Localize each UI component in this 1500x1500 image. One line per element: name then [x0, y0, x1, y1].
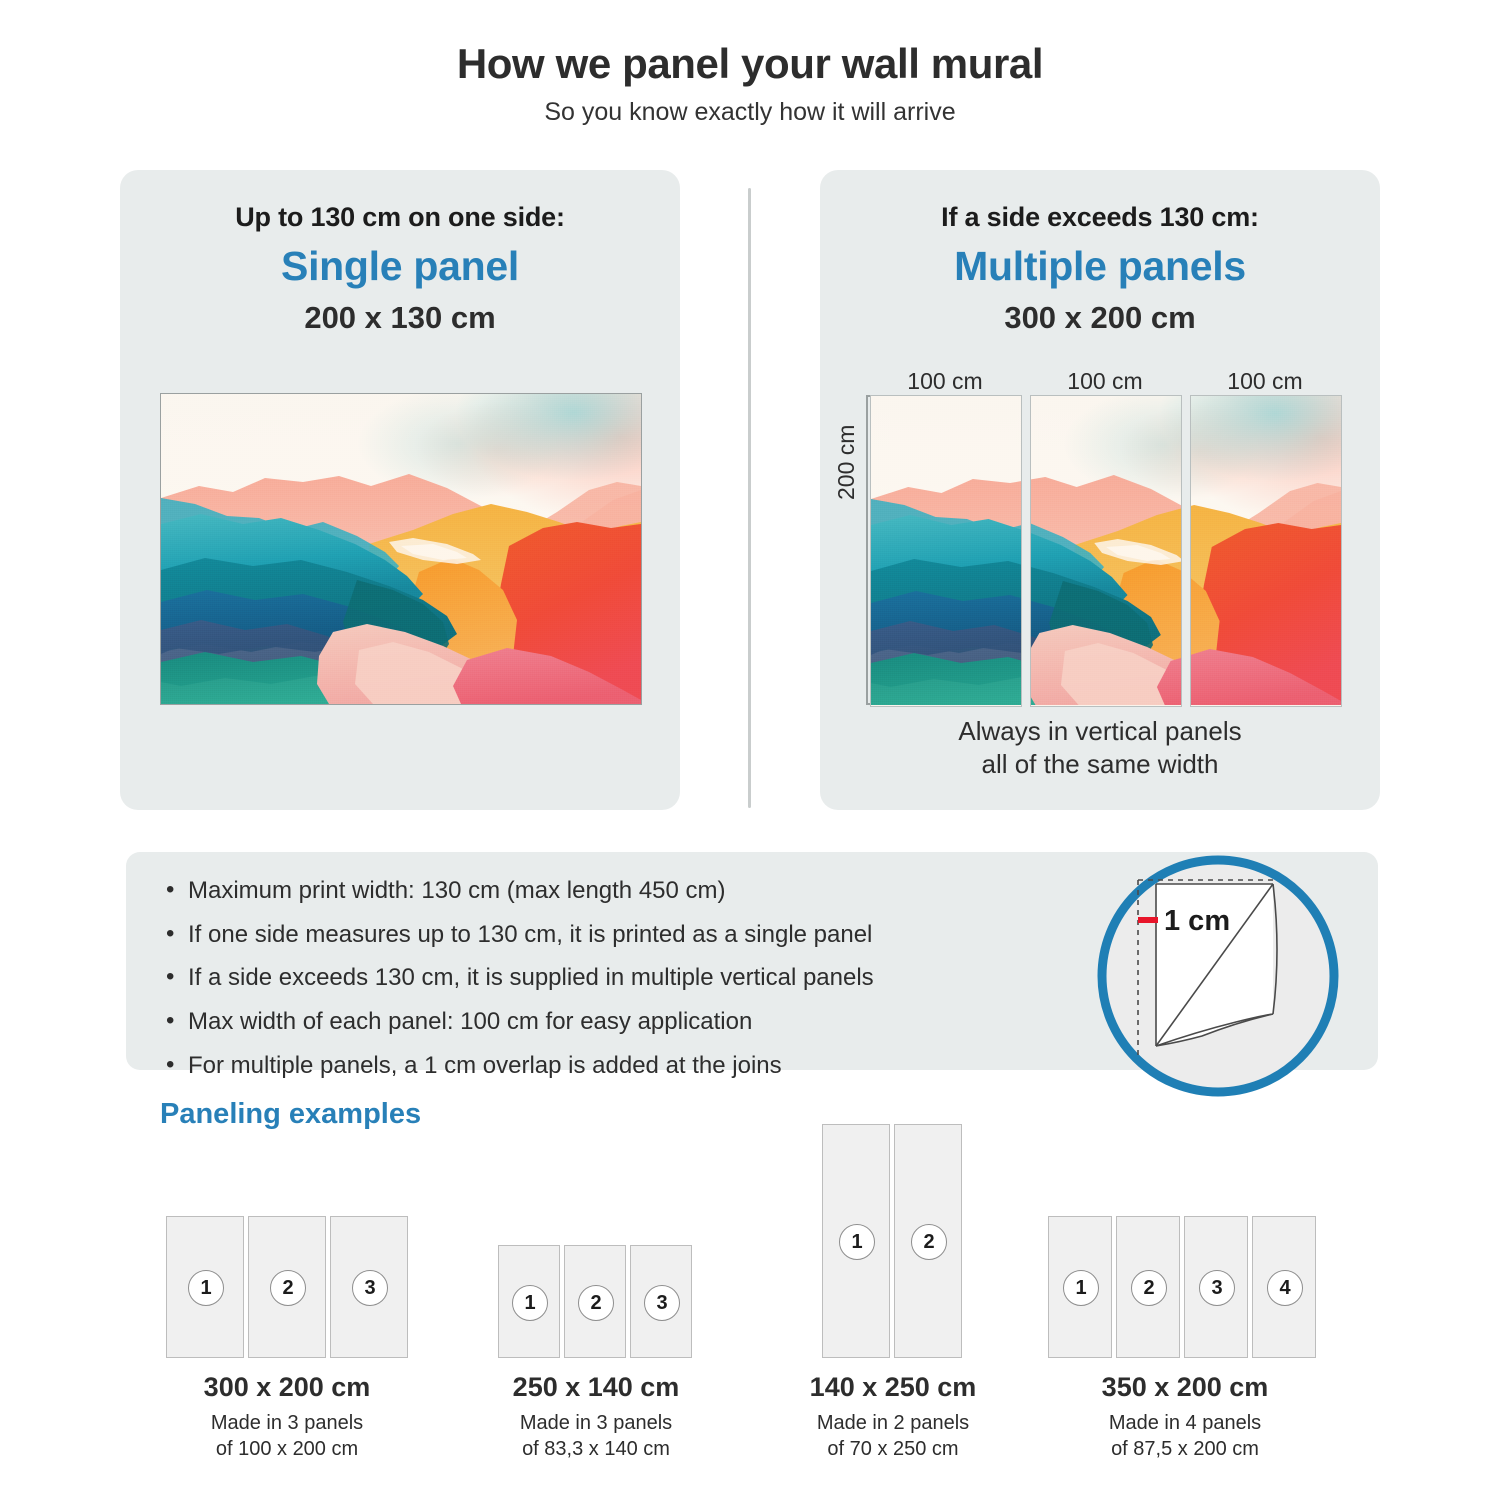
list-item: If one side measures up to 130 cm, it is…	[162, 920, 1062, 951]
example2-panel-number-2: 2	[578, 1285, 614, 1321]
example4-panel-number-1: 1	[1063, 1270, 1099, 1306]
page-title: How we panel your wall mural	[0, 40, 1500, 88]
example1-panel-number-3: 3	[352, 1270, 388, 1306]
example1-panel-number-2: 2	[270, 1270, 306, 1306]
single-panel-kicker: Up to 130 cm on one side:	[120, 202, 680, 233]
paneling-example-1: 1 2 3 300 x 200 cm Made in 3 panels of 1…	[148, 1180, 438, 1480]
single-panel-dimensions: 200 x 130 cm	[120, 300, 680, 336]
example1-description: Made in 3 panels of 100 x 200 cm	[148, 1410, 426, 1462]
mural-panel-1	[870, 395, 1022, 707]
example3-title: 140 x 250 cm	[790, 1372, 996, 1403]
card-divider	[748, 188, 751, 808]
example3-panel-number-1: 1	[839, 1224, 875, 1260]
example3-panel-number-2: 2	[911, 1224, 947, 1260]
multiple-panels-caption: Always in vertical panels all of the sam…	[820, 715, 1380, 782]
panel-width-label-3: 100 cm	[1190, 368, 1340, 395]
paneling-example-4: 1 2 3 4 350 x 200 cm Made in 4 panels of…	[1040, 1180, 1350, 1480]
mural-panel-3-art	[1190, 395, 1341, 705]
example2-panel-number-3: 3	[644, 1285, 680, 1321]
page-subtitle: So you know exactly how it will arrive	[0, 98, 1500, 127]
mural-panel-3	[1190, 395, 1342, 707]
example3-desc-line1: Made in 2 panels	[790, 1410, 996, 1436]
example2-panel-number-1: 1	[512, 1285, 548, 1321]
panel1-texture	[871, 395, 1022, 705]
multiple-panels-caption-line1: Always in vertical panels	[820, 715, 1380, 748]
multiple-panels-caption-line2: all of the same width	[820, 748, 1380, 781]
example3-desc-line2: of 70 x 250 cm	[790, 1436, 996, 1462]
overlap-label: 1 cm	[1164, 905, 1230, 937]
multiple-panels-dimensions: 300 x 200 cm	[820, 300, 1380, 336]
paneling-example-2: 1 2 3 250 x 140 cm Made in 3 panels of 8…	[486, 1180, 776, 1480]
single-panel-heading: Single panel	[120, 243, 680, 290]
example2-title: 250 x 140 cm	[486, 1372, 706, 1403]
example4-desc-line2: of 87,5 x 200 cm	[1040, 1436, 1330, 1462]
mural-panel-1-art	[871, 395, 1022, 705]
list-item: For multiple panels, a 1 cm overlap is a…	[162, 1051, 1062, 1082]
example1-desc-line1: Made in 3 panels	[148, 1410, 426, 1436]
example4-panel-number-4: 4	[1267, 1270, 1303, 1306]
page-header: How we panel your wall mural So you know…	[0, 40, 1500, 127]
list-item: Max width of each panel: 100 cm for easy…	[162, 1007, 1062, 1038]
example4-description: Made in 4 panels of 87,5 x 200 cm	[1040, 1410, 1330, 1462]
example1-panel-number-1: 1	[188, 1270, 224, 1306]
example1-title: 300 x 200 cm	[148, 1372, 426, 1403]
mural-panel-2	[1030, 395, 1182, 707]
panel3-texture	[1190, 395, 1341, 705]
panel-height-label: 200 cm	[833, 425, 860, 500]
example3-description: Made in 2 panels of 70 x 250 cm	[790, 1410, 996, 1462]
example2-description: Made in 3 panels of 83,3 x 140 cm	[486, 1410, 706, 1462]
example2-desc-line1: Made in 3 panels	[486, 1410, 706, 1436]
example4-panel-number-2: 2	[1131, 1270, 1167, 1306]
paneling-example-3: 1 2 140 x 250 cm Made in 2 panels of 70 …	[790, 1180, 1080, 1480]
list-item: If a side exceeds 130 cm, it is supplied…	[162, 963, 1062, 994]
mural-panel-2-art	[1030, 395, 1182, 705]
example2-desc-line2: of 83,3 x 140 cm	[486, 1436, 706, 1462]
overlap-detail-diagram: 1 cm	[1088, 846, 1348, 1106]
example4-panel-number-3: 3	[1199, 1270, 1235, 1306]
mural-artwork-single	[160, 393, 642, 705]
infographic-page: How we panel your wall mural So you know…	[0, 0, 1500, 1500]
mural-artwork-panels	[870, 395, 1340, 705]
multiple-panels-heading: Multiple panels	[820, 243, 1380, 290]
panel-width-label-1: 100 cm	[870, 368, 1020, 395]
panel-width-label-2: 100 cm	[1030, 368, 1180, 395]
multiple-panels-kicker: If a side exceeds 130 cm:	[820, 202, 1380, 233]
list-item: Maximum print width: 130 cm (max length …	[162, 876, 1062, 907]
example4-desc-line1: Made in 4 panels	[1040, 1410, 1330, 1436]
example1-desc-line2: of 100 x 200 cm	[148, 1436, 426, 1462]
paneling-examples-title: Paneling examples	[160, 1098, 421, 1131]
panel2-texture	[1030, 395, 1182, 705]
specifications-list: Maximum print width: 130 cm (max length …	[162, 876, 1062, 1095]
example4-title: 350 x 200 cm	[1040, 1372, 1330, 1403]
artwork-texture	[161, 394, 641, 704]
